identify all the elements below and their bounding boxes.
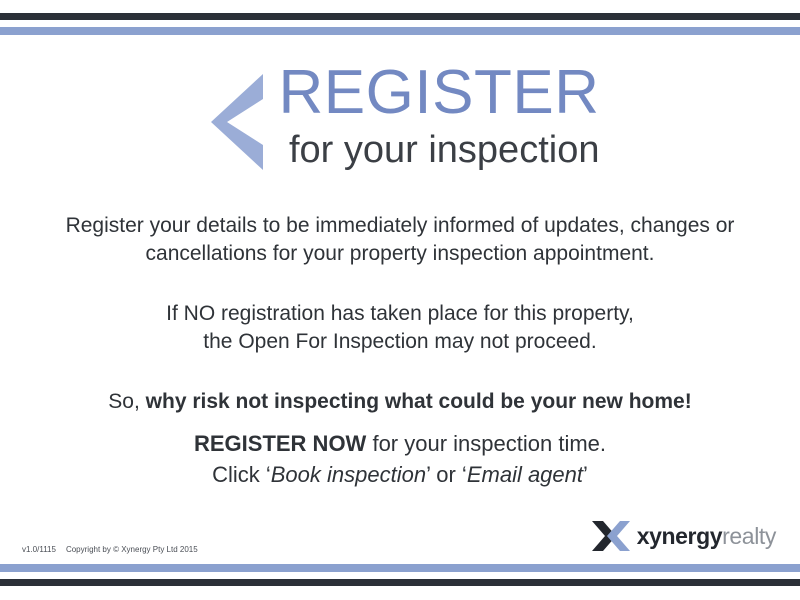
page-title: REGISTER: [279, 62, 600, 124]
brand-logo: xynergyrealty: [592, 521, 776, 551]
cta-option-book-inspection: Book inspection: [271, 462, 426, 487]
cta-block: REGISTER NOW for your inspection time. C…: [60, 428, 740, 490]
top-blue-rule: [0, 27, 800, 35]
cta-click-prefix: Click ‘: [212, 462, 271, 487]
paragraph-prompt: So, why risk not inspecting what could b…: [60, 388, 740, 416]
bottom-blue-rule: [0, 564, 800, 572]
cta-register-now-rest: for your inspection time.: [372, 431, 606, 456]
cta-line-register-now: REGISTER NOW for your inspection time.: [60, 428, 740, 459]
copyright-label: Copyright by © Xynergy Pty Ltd 2015: [66, 545, 198, 554]
cta-option-email-agent: Email agent: [467, 462, 583, 487]
header-text-block: REGISTER for your inspection: [279, 62, 600, 172]
paragraph-warning-line-1: If NO registration has taken place for t…: [166, 302, 634, 325]
header-lockup: REGISTER for your inspection: [0, 62, 800, 172]
paragraph-prompt-emphasis: why risk not inspecting what could be yo…: [146, 390, 692, 413]
brand-word-realty: realty: [722, 523, 776, 549]
cta-line-click-options: Click ‘Book inspection’ or ‘Email agent’: [60, 459, 740, 490]
body-copy-block: Register your details to be immediately …: [60, 212, 740, 416]
top-dark-rule: [0, 13, 800, 20]
paragraph-warning-line-2: the Open For Inspection may not proceed.: [203, 330, 596, 353]
cta-click-suffix: ’: [583, 462, 588, 487]
page-subtitle: for your inspection: [279, 128, 600, 172]
slide-canvas: REGISTER for your inspection Register yo…: [0, 0, 800, 600]
cta-register-now-label: REGISTER NOW: [194, 431, 366, 456]
paragraph-prompt-lead: So,: [108, 390, 140, 413]
fineprint: v1.0/1115Copyright by © Xynergy Pty Ltd …: [22, 544, 198, 555]
version-label: v1.0/1115: [22, 545, 56, 554]
paragraph-intro: Register your details to be immediately …: [60, 212, 740, 268]
chevron-left-icon: [201, 74, 263, 170]
brand-word-xynergy: xynergy: [637, 523, 722, 549]
paragraph-warning: If NO registration has taken place for t…: [60, 300, 740, 356]
brand-logo-wordmark: xynergyrealty: [637, 525, 776, 548]
xynergy-x-logo-icon: [592, 521, 630, 551]
cta-click-middle: ’ or ‘: [426, 462, 467, 487]
bottom-dark-rule: [0, 579, 800, 586]
